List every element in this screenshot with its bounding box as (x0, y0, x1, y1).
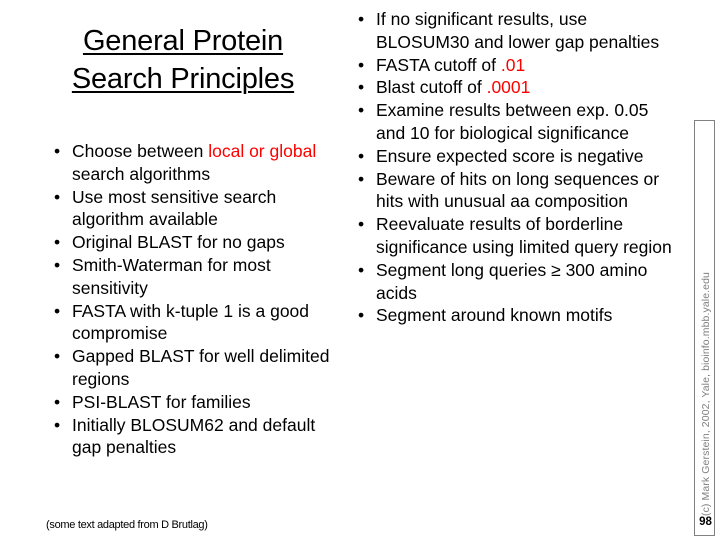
right-bullet-item-segment: Segment around known motifs (376, 305, 612, 325)
bullet-dot-icon: • (358, 259, 372, 282)
right-bullet-item-segment: Ensure expected score is negative (376, 146, 644, 166)
left-bullet-column: •Choose between local or global search a… (50, 140, 346, 459)
copyright-credit: (c) Mark Gerstein, 2002, Yale, bioinfo.m… (700, 272, 712, 516)
bullet-dot-icon: • (358, 213, 372, 236)
right-bullet-item-segment: .0001 (487, 77, 531, 97)
right-bullet-item-text: Examine results between exp. 0.05 and 10… (376, 99, 676, 145)
bullet-dot-icon: • (54, 140, 68, 163)
right-bullet-item: •FASTA cutoff of .01 (354, 54, 676, 77)
right-bullet-item-text: Segment long queries ≥ 300 amino acids (376, 259, 676, 305)
left-bullet-item-text: Initially BLOSUM62 and default gap penal… (72, 414, 346, 460)
title-line-2: Search Principles (72, 60, 294, 98)
right-bullet-item: •Examine results between exp. 0.05 and 1… (354, 99, 676, 145)
right-bullet-item: •Ensure expected score is negative (354, 145, 676, 168)
left-bullet-item: •Smith-Waterman for most sensitivity (50, 254, 346, 300)
bullet-dot-icon: • (358, 304, 372, 327)
title-line-1: General Protein (83, 22, 283, 60)
bullet-dot-icon: • (54, 231, 68, 254)
right-bullet-item: •If no significant results, use BLOSUM30… (354, 8, 676, 54)
right-bullet-item: •Blast cutoff of .0001 (354, 76, 676, 99)
right-bullet-item-text: FASTA cutoff of .01 (376, 54, 676, 77)
bullet-dot-icon: • (358, 76, 372, 99)
left-bullet-item: •Gapped BLAST for well delimited regions (50, 345, 346, 391)
bullet-dot-icon: • (358, 99, 372, 122)
left-bullet-item: •PSI-BLAST for families (50, 391, 346, 414)
bullet-dot-icon: • (54, 254, 68, 277)
left-bullet-item-segment: PSI-BLAST for families (72, 392, 251, 412)
left-bullet-item-segment: local or global (208, 141, 316, 161)
slide-canvas: General Protein Search Principles •Choos… (0, 0, 720, 540)
credit-sidebar: 98 (c) Mark Gerstein, 2002, Yale, bioinf… (694, 120, 715, 536)
right-bullet-item-text: Segment around known motifs (376, 304, 676, 327)
left-bullet-item-segment: Initially BLOSUM62 and default gap penal… (72, 415, 315, 458)
left-bullet-item-text: Smith-Waterman for most sensitivity (72, 254, 346, 300)
bullet-dot-icon: • (54, 186, 68, 209)
left-bullet-item-text: PSI-BLAST for families (72, 391, 346, 414)
right-bullet-list: •If no significant results, use BLOSUM30… (354, 8, 676, 327)
right-bullet-column: •If no significant results, use BLOSUM30… (354, 8, 676, 327)
left-bullet-item-text: Choose between local or global search al… (72, 140, 346, 186)
title-line-2-wrapper: Search Principles (18, 60, 348, 98)
right-bullet-item-segment: If no significant results, use BLOSUM30 … (376, 9, 659, 52)
bullet-dot-icon: • (358, 145, 372, 168)
right-bullet-item: •Reevaluate results of borderline signif… (354, 213, 676, 259)
left-bullet-item-text: FASTA with k-tuple 1 is a good compromis… (72, 300, 346, 346)
left-bullet-item: •Use most sensitive search algorithm ava… (50, 186, 346, 232)
right-bullet-item: •Segment around known motifs (354, 304, 676, 327)
right-bullet-item-text: Reevaluate results of borderline signifi… (376, 213, 676, 259)
right-bullet-item-segment: FASTA cutoff of (376, 55, 501, 75)
left-bullet-item-text: Gapped BLAST for well delimited regions (72, 345, 346, 391)
title-line-1-wrapper: General Protein (18, 22, 348, 60)
page-title: General Protein Search Principles (18, 22, 348, 98)
left-bullet-item: •Initially BLOSUM62 and default gap pena… (50, 414, 346, 460)
credit-sidebar-stack: 98 (c) Mark Gerstein, 2002, Yale, bioinf… (695, 272, 716, 531)
left-bullet-item-segment: Original BLAST for no gaps (72, 232, 285, 252)
left-bullet-item-text: Original BLAST for no gaps (72, 231, 346, 254)
right-bullet-item-segment: Beware of hits on long sequences or hits… (376, 169, 659, 212)
bullet-dot-icon: • (358, 168, 372, 191)
bullet-dot-icon: • (54, 300, 68, 323)
right-bullet-item-text: If no significant results, use BLOSUM30 … (376, 8, 676, 54)
left-bullet-item-segment: search algorithms (72, 164, 210, 184)
left-bullet-item: •Choose between local or global search a… (50, 140, 346, 186)
right-bullet-item-segment: Reevaluate results of borderline signifi… (376, 214, 672, 257)
left-bullet-item-text: Use most sensitive search algorithm avai… (72, 186, 346, 232)
left-bullet-item-segment: Choose between (72, 141, 208, 161)
bullet-dot-icon: • (54, 414, 68, 437)
left-bullet-list: •Choose between local or global search a… (50, 140, 346, 459)
bullet-dot-icon: • (358, 54, 372, 77)
right-bullet-item: •Segment long queries ≥ 300 amino acids (354, 259, 676, 305)
right-bullet-item-segment: Examine results between exp. 0.05 and 10… (376, 100, 648, 143)
page-number: 98 (699, 516, 712, 528)
source-footnote: (some text adapted from D Brutlag) (46, 518, 208, 532)
bullet-dot-icon: • (54, 345, 68, 368)
left-bullet-item: •Original BLAST for no gaps (50, 231, 346, 254)
bullet-dot-icon: • (358, 8, 372, 31)
left-bullet-item-segment: Use most sensitive search algorithm avai… (72, 187, 276, 230)
right-bullet-item-text: Blast cutoff of .0001 (376, 76, 676, 99)
left-bullet-item-segment: Gapped BLAST for well delimited regions (72, 346, 329, 389)
right-bullet-item-text: Beware of hits on long sequences or hits… (376, 168, 676, 214)
right-bullet-item-segment: Blast cutoff of (376, 77, 487, 97)
right-bullet-item: •Beware of hits on long sequences or hit… (354, 168, 676, 214)
left-bullet-item-segment: FASTA with k-tuple 1 is a good compromis… (72, 301, 309, 344)
right-bullet-item-segment: Segment long queries ≥ 300 amino acids (376, 260, 647, 303)
right-bullet-item-segment: .01 (501, 55, 525, 75)
left-bullet-item: •FASTA with k-tuple 1 is a good compromi… (50, 300, 346, 346)
bullet-dot-icon: • (54, 391, 68, 414)
left-bullet-item-segment: Smith-Waterman for most sensitivity (72, 255, 271, 298)
right-bullet-item-text: Ensure expected score is negative (376, 145, 676, 168)
